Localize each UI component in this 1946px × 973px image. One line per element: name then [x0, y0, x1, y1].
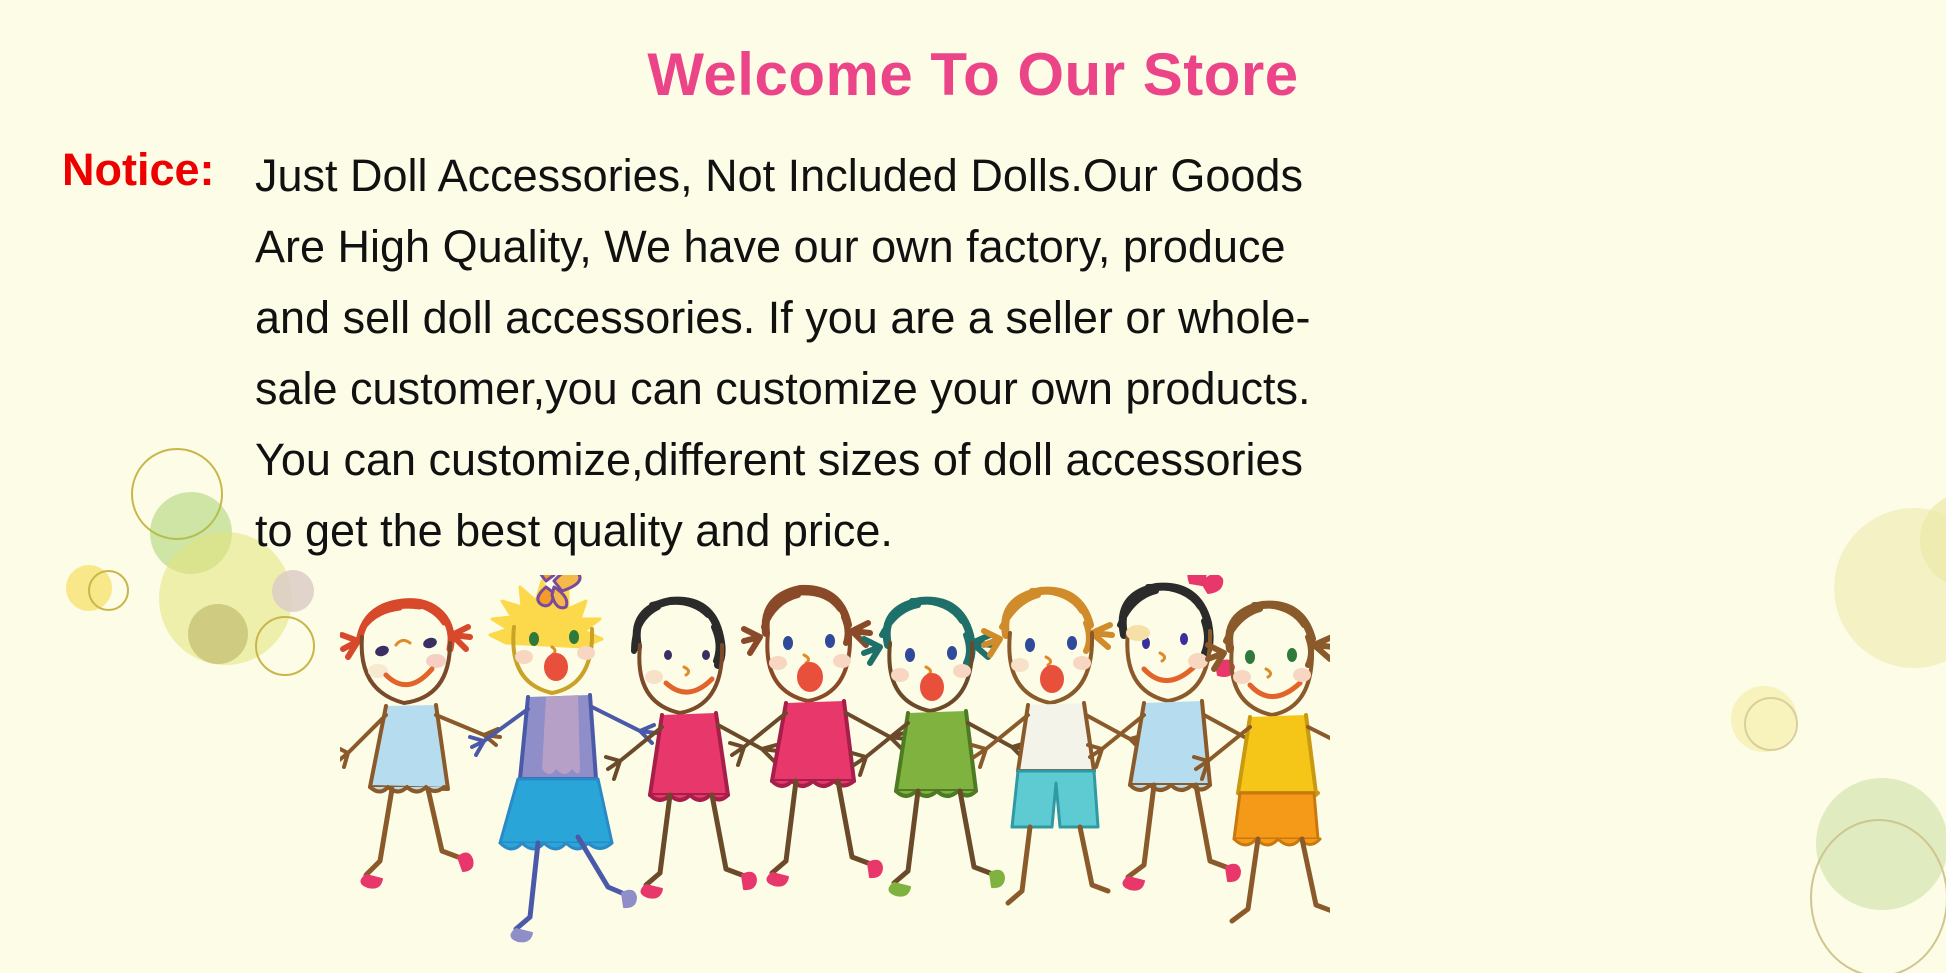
bubble-fill-yellow-right-xl [1834, 508, 1946, 668]
notice-line: and sell doll accessories. If you are a … [255, 282, 1485, 353]
child-orange-hair [972, 591, 1146, 903]
notice-text: Just Doll Accessories, Not Included Doll… [255, 140, 1485, 566]
bubble-outline-small-left [88, 570, 129, 611]
bubble-fill-green-right [1816, 778, 1946, 910]
bubble-fill-mauve-left [272, 570, 314, 612]
child-teal-hair [852, 601, 1028, 896]
bubble-fill-yellow-right-mid [1731, 686, 1797, 752]
notice-line: to get the best quality and price. [255, 495, 1485, 566]
notice-line: You can customize,different sizes of dol… [255, 424, 1485, 495]
notice-label: Notice: [62, 140, 215, 200]
bubble-outline-right-large [1810, 819, 1946, 973]
bubble-fill-green-left [150, 492, 232, 574]
store-welcome-banner: Welcome To Our Store Notice: Just Doll A… [0, 0, 1946, 973]
notice-line: Are High Quality, We have our own factor… [255, 211, 1485, 282]
bubble-outline-right-mid [1744, 697, 1798, 751]
child-blonde-butterfly [470, 575, 656, 941]
bubble-outline-left-large [131, 448, 223, 540]
notice-line: sale customer,you can customize your own… [255, 353, 1485, 424]
bubble-outline-left-lower [255, 616, 315, 676]
bubble-fill-yellow-right-top [1920, 492, 1946, 588]
notice-line: Just Doll Accessories, Not Included Doll… [255, 140, 1485, 211]
children-holding-hands-illustration [340, 575, 1330, 973]
page-title: Welcome To Our Store [0, 40, 1946, 109]
bubble-fill-yellow-small-left [66, 565, 112, 611]
bubble-fill-olive-left [188, 604, 248, 664]
child-brown-pigtails-yellow [1194, 605, 1330, 921]
